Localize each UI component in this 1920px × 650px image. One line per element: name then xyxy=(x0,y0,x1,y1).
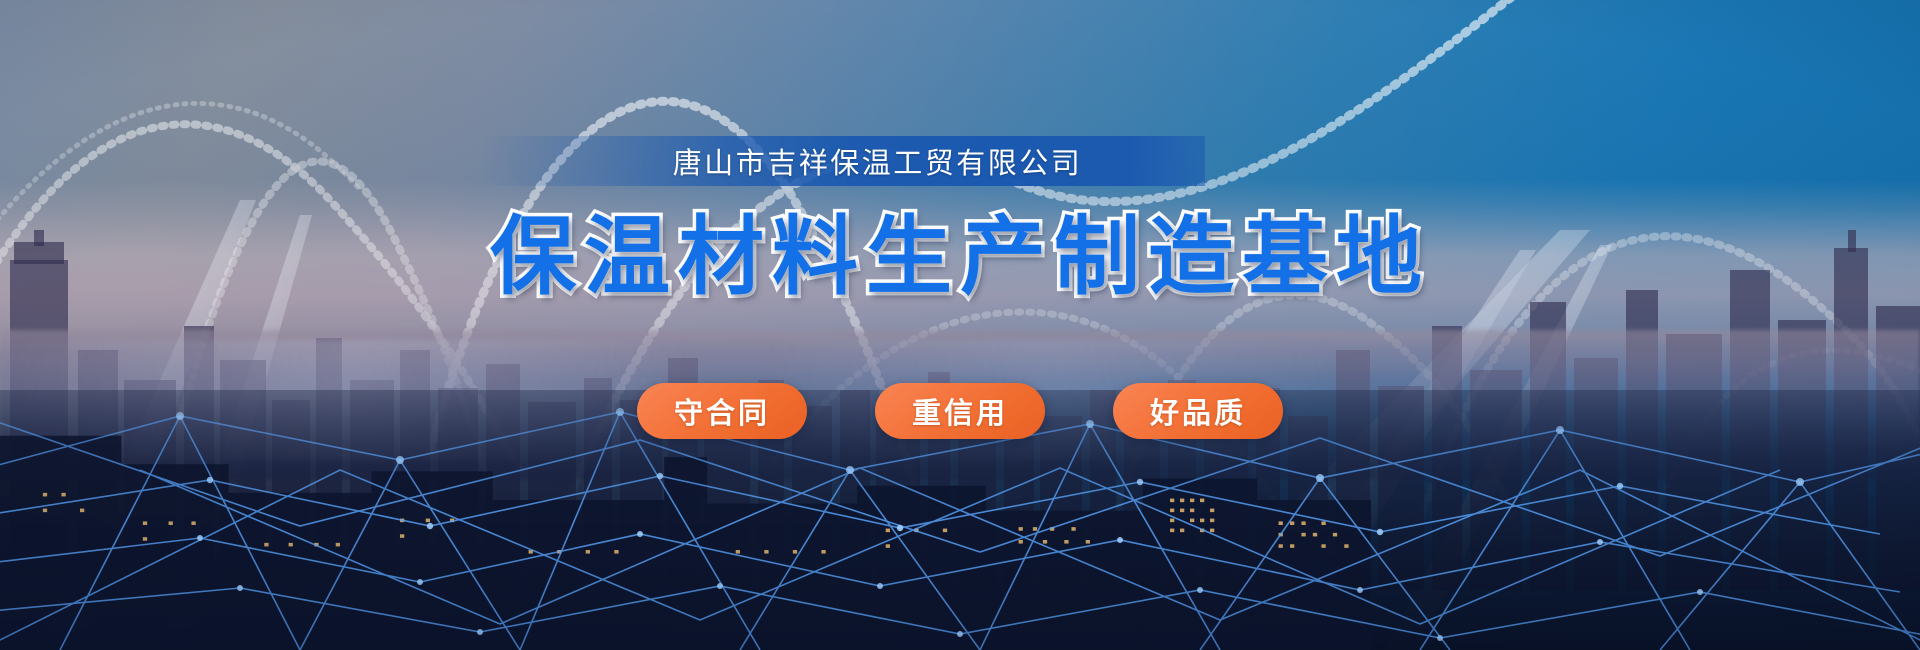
slogan-pill-quality-label: 好品质 xyxy=(1150,390,1246,432)
slogan-pill-quality[interactable]: 好品质 xyxy=(1113,383,1283,439)
slogan-pill-credit[interactable]: 重信用 xyxy=(875,383,1045,439)
hero-banner: 唐山市吉祥保温工贸有限公司 保温材料生产制造基地 守合同 重信用 好品质 xyxy=(0,0,1920,650)
slogan-pill-contract[interactable]: 守合同 xyxy=(637,383,807,439)
company-name-bar: 唐山市吉祥保温工贸有限公司 xyxy=(480,136,1205,186)
slogan-pill-contract-label: 守合同 xyxy=(674,390,770,432)
slogan-pill-group: 守合同 重信用 好品质 xyxy=(0,383,1920,439)
company-name-text: 唐山市吉祥保温工贸有限公司 xyxy=(603,140,1083,182)
page-title: 保温材料生产制造基地 xyxy=(0,186,1920,311)
slogan-pill-credit-label: 重信用 xyxy=(912,390,1008,432)
